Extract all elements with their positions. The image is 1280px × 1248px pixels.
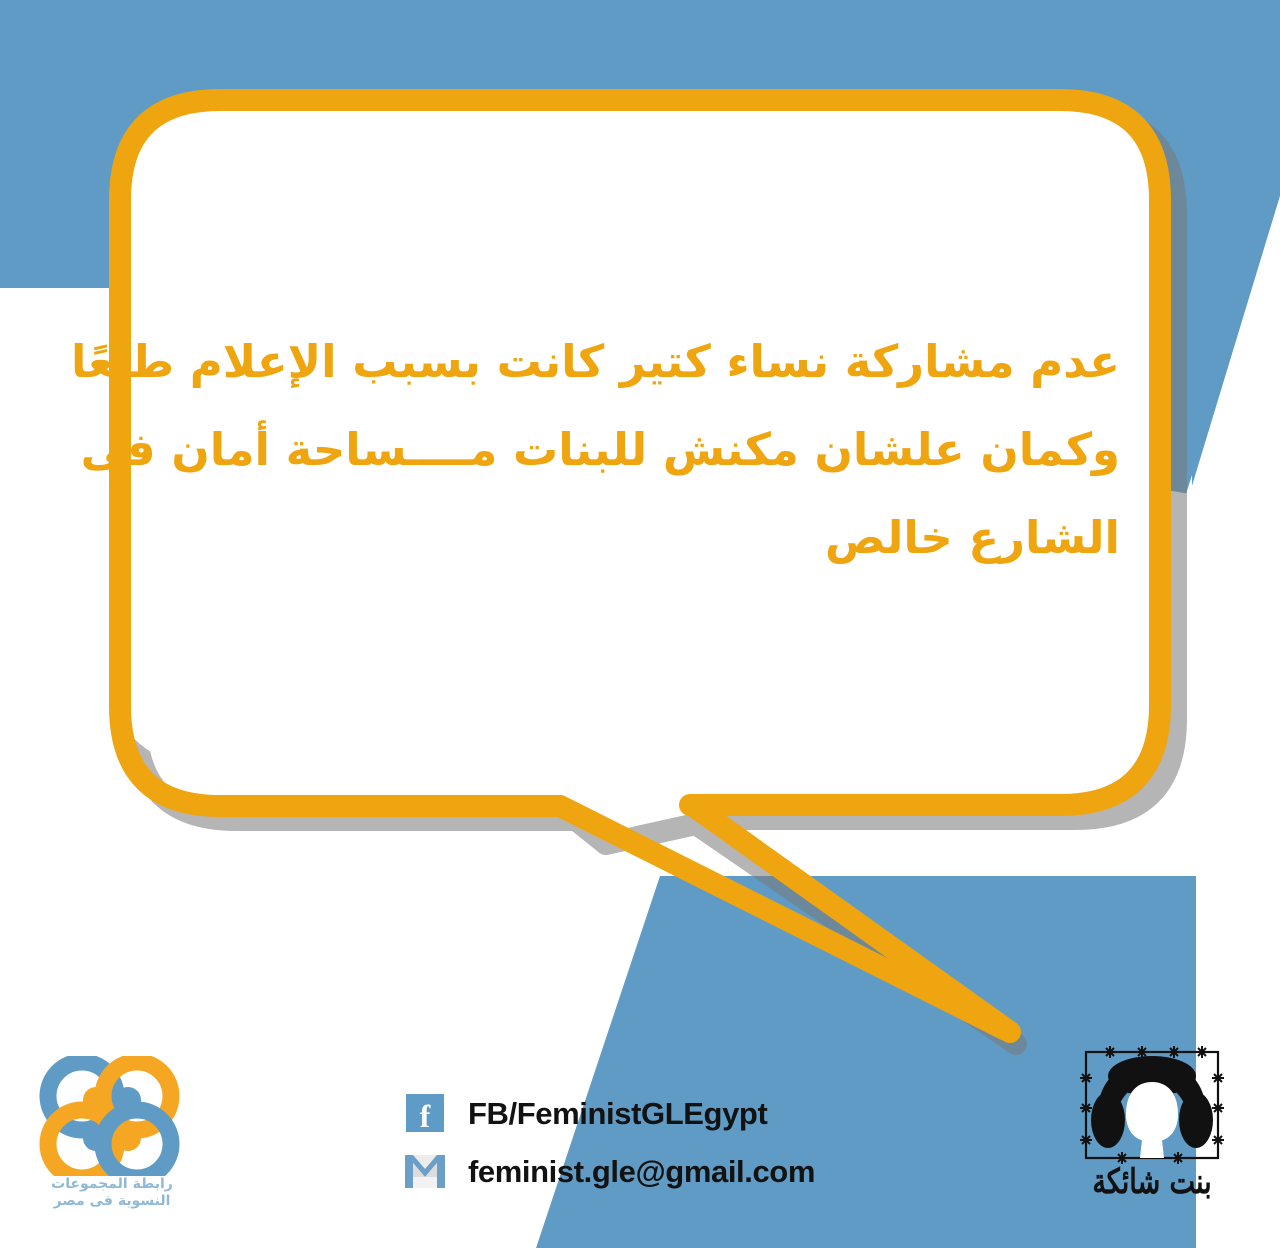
bubble-tail-right xyxy=(692,805,1010,1032)
girl-barbed-wire-mark xyxy=(1072,1042,1232,1167)
league-caption-line-1: رابطة المجموعات xyxy=(51,1176,173,1192)
league-caption-line-2: النسوية فى مصر xyxy=(54,1193,171,1209)
contact-row-email[interactable]: feminist.gle@gmail.com xyxy=(404,1143,874,1201)
bubble-tail-left xyxy=(560,806,1006,1030)
feminist-groups-league-logo: رابطة المجموعات النسوية فى مصر xyxy=(24,1056,200,1236)
league-logo-mark xyxy=(24,1056,200,1176)
quote-line-2: وكمان علشان مكنش للبنات مــــساحة أمان ف… xyxy=(130,406,1120,494)
facebook-handle: FB/FeministGLEgypt xyxy=(468,1096,767,1132)
poster-canvas: عدم مشاركة نساء كتير كانت بسبب الإعلام ط… xyxy=(0,0,1280,1248)
quote-line-1: عدم مشاركة نساء كتير كانت بسبب الإعلام ط… xyxy=(130,318,1120,406)
quote-text-block: عدم مشاركة نساء كتير كانت بسبب الإعلام ط… xyxy=(130,318,1120,582)
quote-line-3: الشارع خالص xyxy=(130,494,1120,582)
facebook-icon: f xyxy=(404,1093,446,1135)
girl-silhouette xyxy=(1091,1056,1213,1158)
contact-row-facebook[interactable]: f FB/FeministGLEgypt xyxy=(404,1085,874,1143)
league-logo-caption: رابطة المجموعات النسوية فى مصر xyxy=(24,1176,200,1210)
girl-logo-caption: بنت شائكة xyxy=(1072,1164,1232,1202)
gmail-icon xyxy=(404,1151,446,1193)
footer-contact-block: f FB/FeministGLEgypt femi xyxy=(404,1085,874,1201)
girl-barbed-wire-logo: بنت شائكة xyxy=(1072,1042,1232,1234)
email-address: feminist.gle@gmail.com xyxy=(468,1154,815,1190)
